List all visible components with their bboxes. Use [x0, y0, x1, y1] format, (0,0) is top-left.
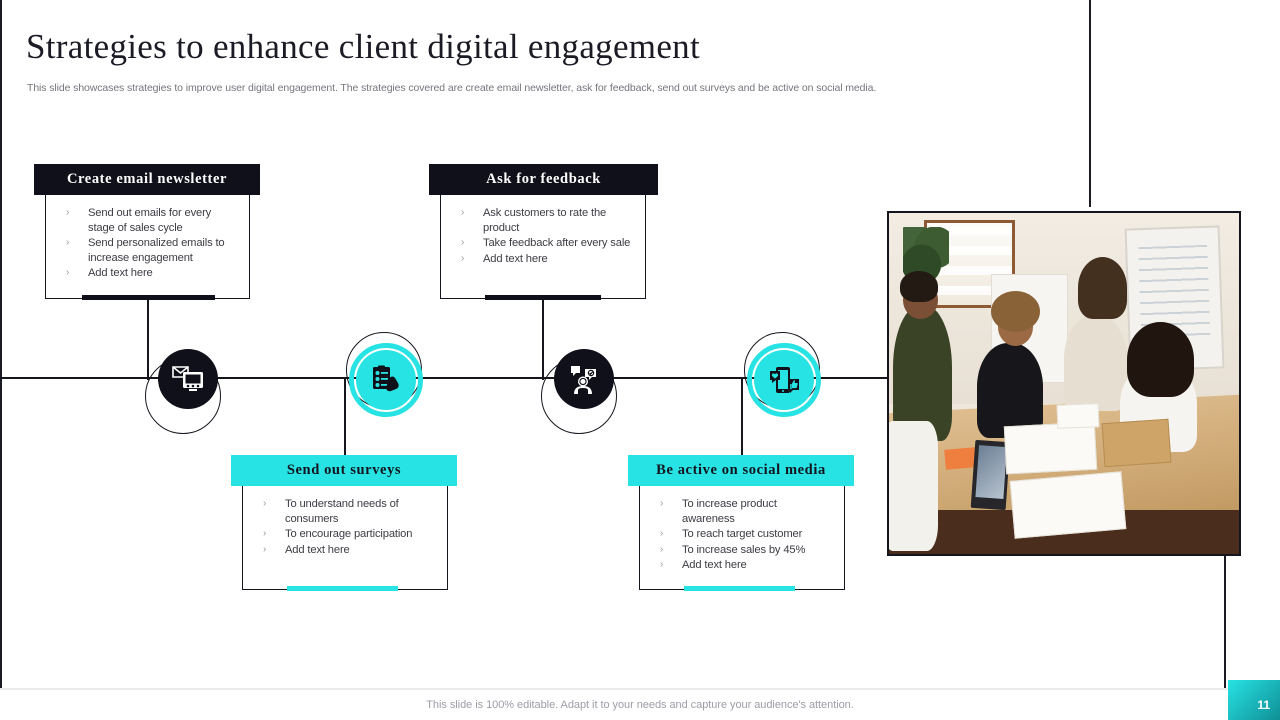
card-title-be-active-on-social-media: Be active on social media [628, 455, 854, 486]
feedback-person-icon [568, 364, 600, 394]
timeline-node-social-media[interactable] [736, 330, 832, 426]
photo-person [887, 421, 938, 551]
chevron-right-icon: › [263, 543, 266, 558]
card-title-send-out-surveys: Send out surveys [231, 455, 457, 486]
list-item: ›To encourage participation [255, 527, 435, 542]
chevron-right-icon: › [660, 527, 663, 542]
photo-person-hair [1078, 257, 1127, 318]
card-body-send-out-surveys: ›To understand needs of consumers ›To en… [242, 486, 448, 590]
chevron-right-icon: › [461, 236, 464, 251]
list-item-text: Send out emails for every stage of sales… [88, 207, 211, 234]
page-subtitle: This slide showcases strategies to impro… [27, 81, 1037, 96]
page-number-badge: 11 [1228, 680, 1280, 720]
bullet-list-create-email-newsletter: ›Send out emails for every stage of sale… [58, 206, 237, 281]
bullet-list-be-active-on-social-media: ›To increase product awareness ›To reach… [652, 497, 832, 573]
node-disc [554, 349, 614, 409]
chevron-right-icon: › [263, 497, 266, 512]
chevron-right-icon: › [660, 543, 663, 558]
list-item: ›Add text here [652, 558, 832, 573]
photo-content [889, 213, 1239, 554]
list-item-text: To increase sales by 45% [682, 544, 805, 556]
chevron-right-icon: › [660, 497, 663, 512]
list-item-text: To increase product awareness [682, 498, 777, 525]
list-item: ›Send out emails for every stage of sale… [58, 206, 237, 235]
photo-person-hair [1127, 322, 1194, 397]
list-item-text: Send personalized emails to increase eng… [88, 237, 225, 264]
photo-open-notebook [1009, 471, 1126, 539]
list-item: ›Ask customers to rate the product [453, 206, 633, 235]
card-accent-bar-ask-for-feedback [485, 295, 601, 300]
social-phone-icon [768, 365, 800, 395]
survey-clipboard-icon [370, 365, 402, 395]
list-item: ›To increase product awareness [652, 497, 832, 526]
card-body-be-active-on-social-media: ›To increase product awareness ›To reach… [639, 486, 845, 590]
card-title-ask-for-feedback: Ask for feedback [429, 164, 658, 195]
bullet-list-send-out-surveys: ›To understand needs of consumers ›To en… [255, 497, 435, 557]
list-item: ›To understand needs of consumers [255, 497, 435, 526]
photo-sketch-sheet [1003, 422, 1096, 474]
footer-divider [0, 688, 1280, 690]
photo-notepad [1057, 403, 1100, 428]
list-item: ›Add text here [255, 543, 435, 558]
timeline-node-ask-for-feedback[interactable] [536, 340, 632, 436]
card-accent-bar-create-email-newsletter [82, 295, 215, 300]
chevron-right-icon: › [461, 252, 464, 267]
photo-person-hair [991, 291, 1040, 332]
list-item-text: Ask customers to rate the product [483, 207, 606, 234]
chevron-right-icon: › [660, 558, 663, 573]
list-item: ›Add text here [58, 266, 237, 281]
list-item-text: Add text here [285, 544, 350, 556]
list-item-text: To encourage participation [285, 528, 412, 540]
card-accent-bar-be-active-on-social-media [684, 586, 795, 591]
card-accent-bar-send-out-surveys [287, 586, 398, 591]
timeline-node-send-out-surveys[interactable] [338, 330, 434, 426]
frame-line-right-top [1089, 0, 1091, 207]
list-item-text: To understand needs of consumers [285, 498, 399, 525]
list-item: ›Add text here [453, 252, 633, 267]
photo-person [977, 343, 1044, 438]
list-item: ›Take feedback after every sale [453, 236, 633, 251]
frame-line-right-bottom [1224, 556, 1226, 690]
chevron-right-icon: › [66, 266, 69, 281]
card-body-create-email-newsletter: ›Send out emails for every stage of sale… [45, 195, 250, 299]
photo-team-collaboration [887, 211, 1241, 556]
photo-folder [1101, 419, 1170, 468]
list-item: ›To reach target customer [652, 527, 832, 542]
card-title-create-email-newsletter: Create email newsletter [34, 164, 260, 195]
footer-note: This slide is 100% editable. Adapt it to… [0, 699, 1280, 711]
chevron-right-icon: › [263, 527, 266, 542]
list-item-text: To reach target customer [682, 528, 802, 540]
page-title: Strategies to enhance client digital eng… [26, 27, 700, 67]
list-item: ›Send personalized emails to increase en… [58, 236, 237, 265]
bullet-list-ask-for-feedback: ›Ask customers to rate the product ›Take… [453, 206, 633, 266]
frame-line-left [0, 0, 2, 690]
node-disc [754, 350, 814, 410]
list-item-text: Add text here [88, 267, 153, 279]
slide-canvas: Strategies to enhance client digital eng… [0, 0, 1280, 720]
list-item-text: Take feedback after every sale [483, 237, 630, 249]
chevron-right-icon: › [66, 236, 69, 251]
chevron-right-icon: › [66, 206, 69, 221]
node-disc [356, 350, 416, 410]
node-disc [158, 349, 218, 409]
list-item-text: Add text here [483, 253, 548, 265]
photo-person [1064, 315, 1127, 410]
photo-person-hair [900, 271, 939, 302]
list-item-text: Add text here [682, 559, 747, 571]
card-body-ask-for-feedback: ›Ask customers to rate the product ›Take… [440, 195, 646, 299]
email-monitor-icon [171, 364, 205, 394]
timeline-node-email-newsletter[interactable] [140, 340, 236, 436]
chevron-right-icon: › [461, 206, 464, 221]
list-item: ›To increase sales by 45% [652, 543, 832, 558]
